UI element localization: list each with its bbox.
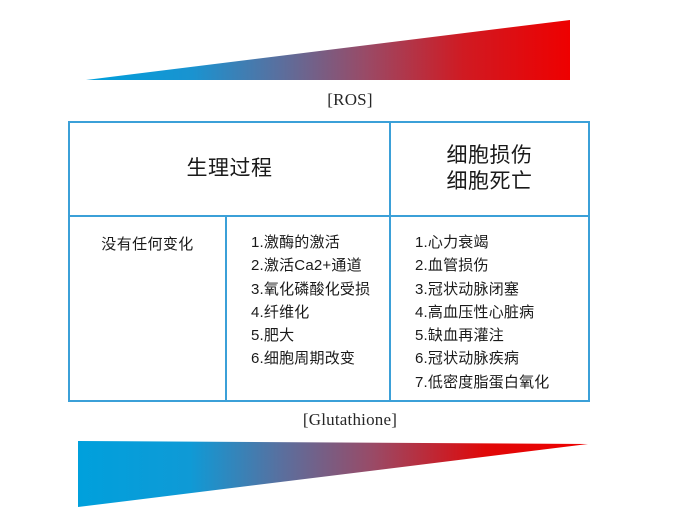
physiological-item-list: 1.激酶的激活 2.激活Ca2+通道 3.氧化磷酸化受损 4.纤维化 5.肥大 … (227, 217, 389, 371)
outcome-matrix-table: 生理过程 细胞损伤 细胞死亡 没有任何变化 1.激酶的激活 2.激活Ca2+通道… (68, 121, 590, 402)
header-label-physiological-process: 生理过程 (70, 156, 389, 182)
list-item: 2.激活Ca2+通道 (251, 254, 389, 277)
list-item: 6.细胞周期改变 (251, 347, 389, 370)
list-item: 7.低密度脂蛋白氧化 (415, 371, 588, 394)
list-item: 4.纤维化 (251, 301, 389, 324)
body-cell-damage-items: 1.心力衰竭 2.血管损伤 3.冠状动脉闭塞 4.高血压性心脏病 5.缺血再灌注… (390, 216, 589, 401)
header-label-cell-damage: 细胞损伤 (391, 143, 588, 169)
list-item: 5.缺血再灌注 (415, 324, 588, 347)
list-item: 1.心力衰竭 (415, 231, 588, 254)
no-change-label: 没有任何变化 (70, 217, 225, 255)
body-cell-no-change: 没有任何变化 (69, 216, 226, 401)
list-item: 3.冠状动脉闭塞 (415, 278, 588, 301)
list-item: 4.高血压性心脏病 (415, 301, 588, 324)
damage-item-list: 1.心力衰竭 2.血管损伤 3.冠状动脉闭塞 4.高血压性心脏病 5.缺血再灌注… (391, 217, 588, 394)
header-label-cell-death: 细胞死亡 (391, 169, 588, 195)
list-item: 2.血管损伤 (415, 254, 588, 277)
ros-axis-label: [ROS] (0, 90, 700, 110)
figure-canvas: [ROS] 生理过程 细胞损伤 细胞死亡 没有任何变化 (0, 0, 700, 525)
body-cell-physiological-items: 1.激酶的激活 2.激活Ca2+通道 3.氧化磷酸化受损 4.纤维化 5.肥大 … (226, 216, 390, 401)
ros-gradient-wedge (86, 20, 570, 80)
list-item: 1.激酶的激活 (251, 231, 389, 254)
glutathione-gradient-wedge (78, 441, 588, 507)
table-header-row: 生理过程 细胞损伤 细胞死亡 (69, 122, 589, 216)
list-item: 6.冠状动脉疾病 (415, 347, 588, 370)
header-cell-cell-damage-death: 细胞损伤 细胞死亡 (390, 122, 589, 216)
list-item: 5.肥大 (251, 324, 389, 347)
list-item: 3.氧化磷酸化受损 (251, 278, 389, 301)
table-body-row: 没有任何变化 1.激酶的激活 2.激活Ca2+通道 3.氧化磷酸化受损 4.纤维… (69, 216, 589, 401)
glutathione-axis-label: [Glutathione] (0, 410, 700, 430)
header-cell-physiological-process: 生理过程 (69, 122, 390, 216)
